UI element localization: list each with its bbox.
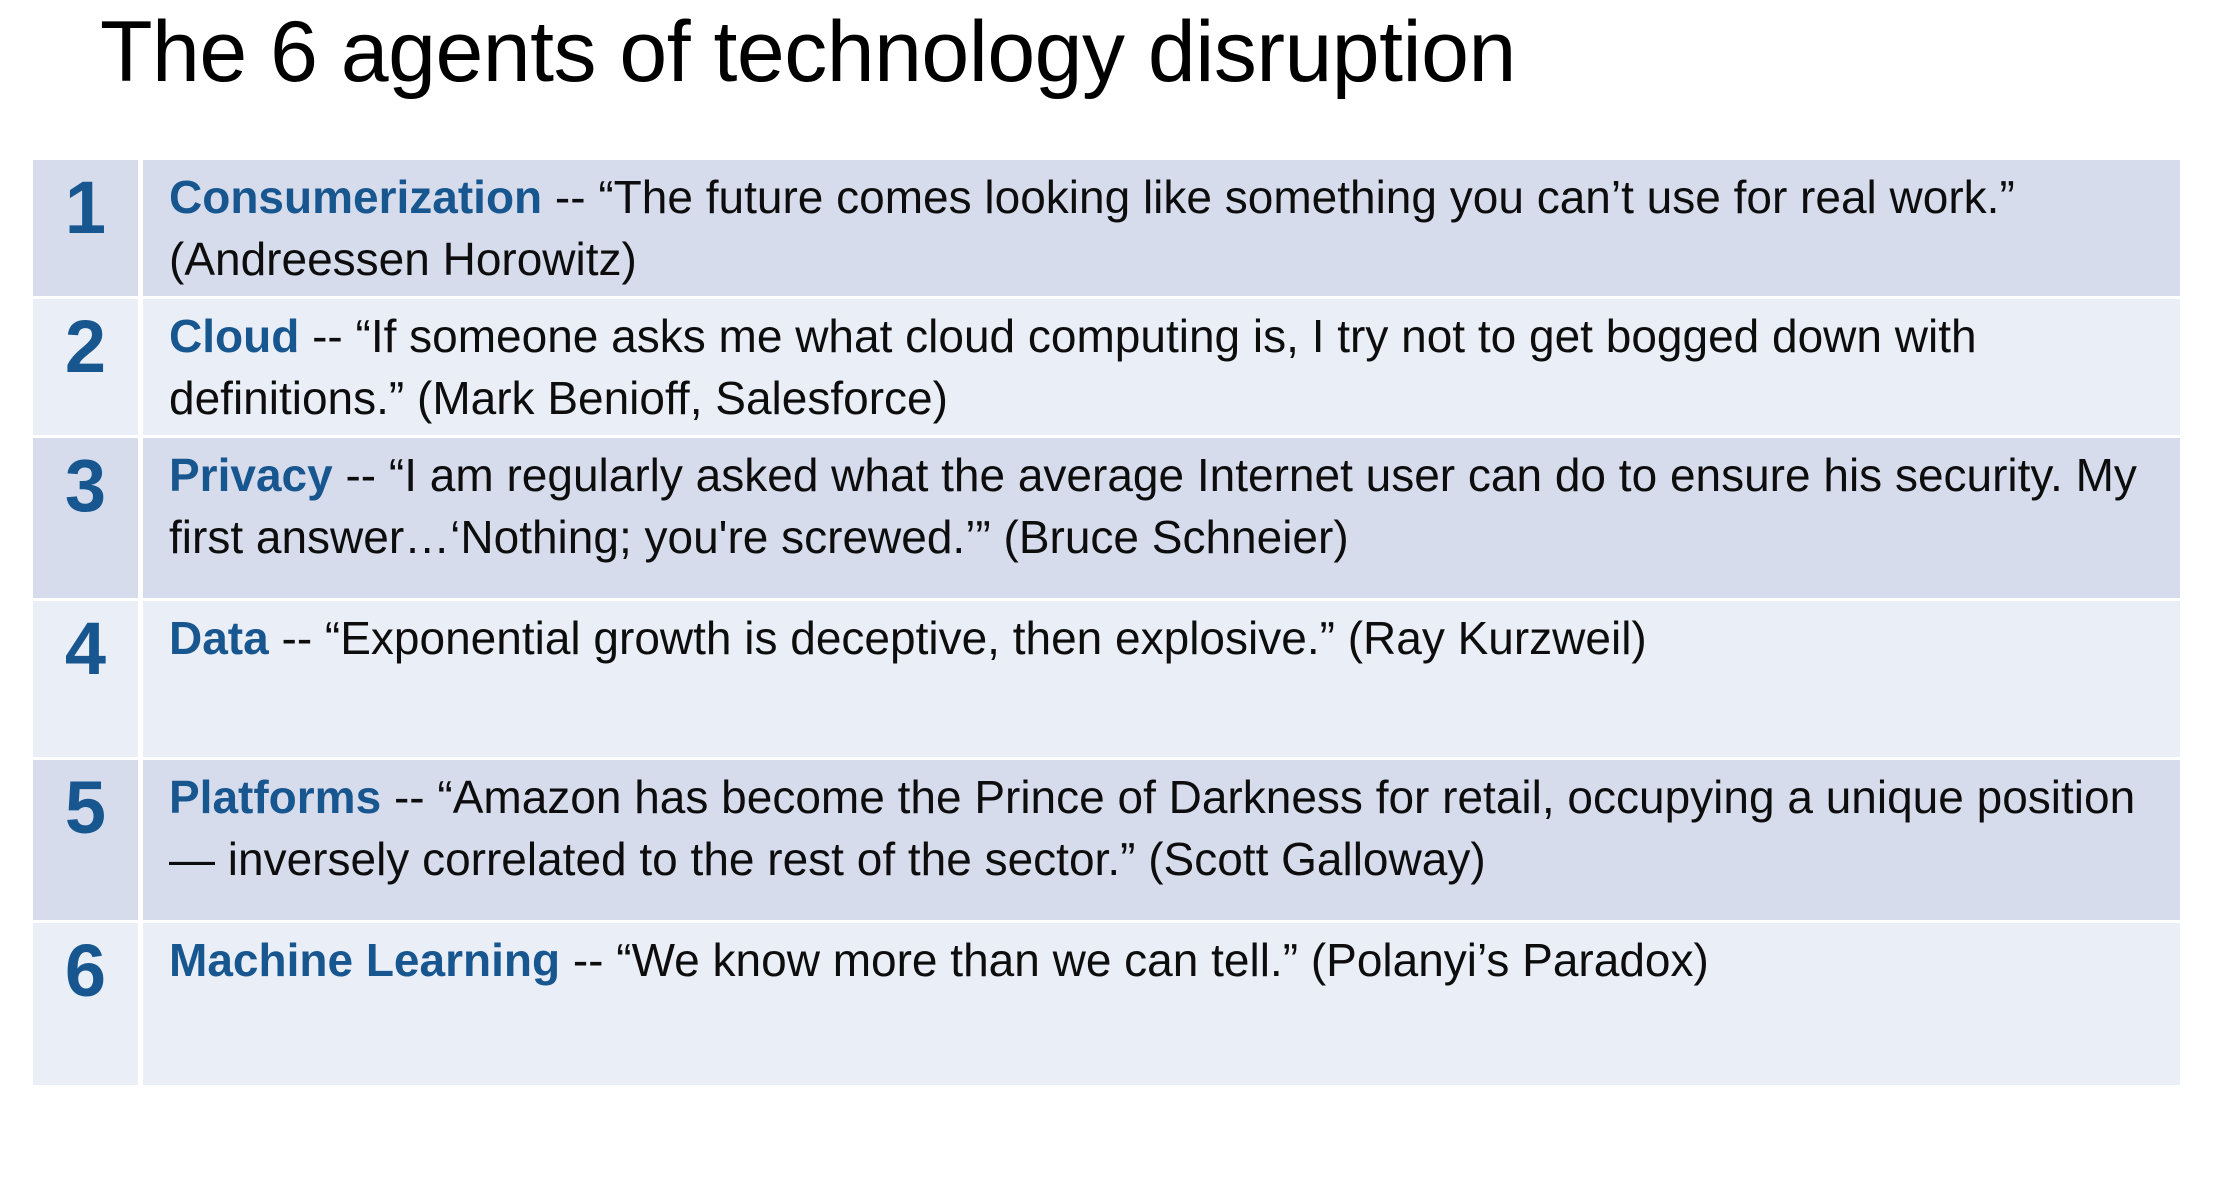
agent-entry: Privacy -- “I am regularly asked what th… [169, 444, 2162, 568]
row-number: 6 [33, 929, 138, 1013]
agent-entry: Consumerization -- “The future comes loo… [169, 166, 2162, 290]
row-number: 3 [33, 444, 138, 528]
row-content-cell: Cloud -- “If someone asks me what cloud … [143, 299, 2180, 438]
table-row[interactable]: 5 Platforms -- “Amazon has become the Pr… [33, 760, 2180, 923]
agents-table: 1 Consumerization -- “The future comes l… [33, 160, 2180, 1085]
row-number: 5 [33, 766, 138, 850]
agent-entry: Data -- “Exponential growth is deceptive… [169, 607, 2162, 669]
row-content-cell: Platforms -- “Amazon has become the Prin… [143, 760, 2180, 923]
agent-entry: Machine Learning -- “We know more than w… [169, 929, 2162, 991]
row-content-cell: Consumerization -- “The future comes loo… [143, 160, 2180, 299]
agent-term: Privacy [169, 449, 333, 501]
table-row[interactable]: 2 Cloud -- “If someone asks me what clou… [33, 299, 2180, 438]
agent-quote: -- “We know more than we can tell.” (Pol… [560, 934, 1709, 986]
row-content-cell: Machine Learning -- “We know more than w… [143, 923, 2180, 1085]
page-title: The 6 agents of technology disruption [100, 2, 2120, 102]
row-number-cell: 2 [33, 299, 143, 438]
agent-quote: -- “I am regularly asked what the averag… [169, 449, 2137, 563]
row-number-cell: 3 [33, 438, 143, 601]
row-number-cell: 6 [33, 923, 143, 1085]
agent-quote: -- “Exponential growth is deceptive, the… [269, 612, 1647, 664]
agent-term: Platforms [169, 771, 381, 823]
agent-term: Consumerization [169, 171, 542, 223]
agent-term: Cloud [169, 310, 299, 362]
agent-term: Machine Learning [169, 934, 560, 986]
agent-quote: -- “If someone asks me what cloud comput… [169, 310, 1977, 424]
row-number: 1 [33, 166, 138, 250]
row-content-cell: Privacy -- “I am regularly asked what th… [143, 438, 2180, 601]
agent-quote: -- “Amazon has become the Prince of Dark… [169, 771, 2135, 885]
agent-entry: Cloud -- “If someone asks me what cloud … [169, 305, 2162, 429]
table-row[interactable]: 3 Privacy -- “I am regularly asked what … [33, 438, 2180, 601]
table-row[interactable]: 4 Data -- “Exponential growth is decepti… [33, 601, 2180, 760]
row-content-cell: Data -- “Exponential growth is deceptive… [143, 601, 2180, 760]
table-row[interactable]: 6 Machine Learning -- “We know more than… [33, 923, 2180, 1085]
slide: The 6 agents of technology disruption 1 … [0, 0, 2216, 1196]
row-number-cell: 4 [33, 601, 143, 760]
row-number-cell: 1 [33, 160, 143, 299]
row-number: 2 [33, 305, 138, 389]
row-number-cell: 5 [33, 760, 143, 923]
agent-term: Data [169, 612, 269, 664]
row-number: 4 [33, 607, 138, 691]
agent-entry: Platforms -- “Amazon has become the Prin… [169, 766, 2162, 890]
table-row[interactable]: 1 Consumerization -- “The future comes l… [33, 160, 2180, 299]
